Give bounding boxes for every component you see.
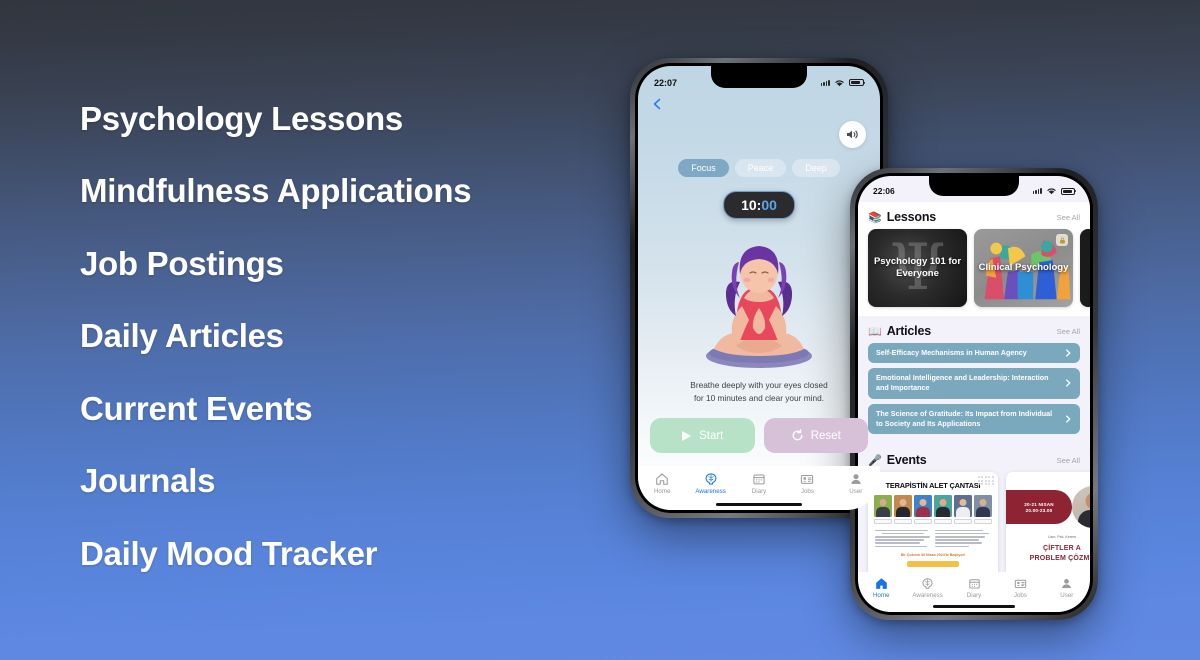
speaker-headshots (868, 495, 998, 524)
tab-jobs-label: Jobs (1014, 592, 1027, 599)
calendar-icon (968, 577, 981, 590)
poster-date-badge: 20-21 NISAN 20.00-23.00 (1006, 490, 1072, 524)
poster-title: TERAPİSTİN ALET ÇANTASI (874, 481, 992, 490)
timer-seconds: 00 (761, 197, 777, 213)
lesson-card-psychology-101[interactable]: Ψ Psychology 101 for Everyone (868, 229, 967, 307)
feature-list: Psychology Lessons Mindfulness Applicati… (80, 82, 600, 590)
lesson-card-title: Psychology 101 for Everyone (868, 256, 967, 281)
events-section: 🎤 Events See All TERAPİSTİN ALET ÇANTASI (858, 443, 1090, 572)
tab-awareness[interactable]: Awareness (904, 577, 950, 599)
tab-diary-label: Diary (967, 592, 981, 599)
tab-home-label: Home (654, 488, 671, 495)
feature-item-daily-articles: Daily Articles (80, 300, 600, 373)
presenter-photo (1072, 486, 1090, 528)
home-indicator (716, 503, 802, 507)
articles-header: 📖 Articles See All (858, 324, 1090, 338)
poster-headline-line-2: PROBLEM ÇÖZME (1006, 554, 1090, 564)
tab-home-label: Home (873, 592, 890, 599)
article-list: Self-Efficacy Mechanisms in Human Agency… (858, 343, 1090, 434)
speaker-headshot (914, 495, 932, 524)
book-icon: 📖 (868, 325, 882, 338)
lock-icon (1056, 234, 1068, 246)
tab-awareness-label: Awareness (912, 592, 943, 599)
lesson-card-clinical-psychology[interactable]: Clinical Psychology (974, 229, 1073, 307)
tab-diary[interactable]: Diary (735, 472, 783, 495)
tab-user-label: User (849, 488, 862, 495)
events-title: Events (887, 453, 927, 467)
home-scroll-content[interactable]: 📚 Lessons See All Ψ Psychology 101 for E… (858, 202, 1090, 572)
status-time: 22:06 (873, 186, 895, 196)
reset-button[interactable]: Reset (764, 418, 869, 453)
article-title: The Science of Gratitude: Its Impact fro… (876, 409, 1058, 429)
notch (711, 66, 807, 88)
instruction-text: Breathe deeply with your eyes closed for… (638, 379, 880, 405)
microphone-icon: 🎤 (868, 454, 882, 467)
home-icon (875, 577, 888, 590)
chevron-right-icon (1064, 349, 1072, 357)
mode-chip-group: Focus Peace Deep (638, 159, 880, 177)
tab-diary-label: Diary (752, 488, 766, 495)
lesson-card-row[interactable]: Ψ Psychology 101 for Everyone (858, 229, 1090, 307)
instruction-line-1: Breathe deeply with your eyes closed (658, 379, 860, 392)
notch (929, 176, 1019, 196)
wifi-icon (834, 79, 845, 87)
events-see-all[interactable]: See All (1057, 456, 1080, 465)
article-title: Emotional Intelligence and Leadership: I… (876, 373, 1058, 393)
signal-icon (1033, 188, 1042, 194)
play-icon (681, 430, 692, 442)
poster-hero: 20-21 NISAN 20.00-23.00 (1006, 484, 1090, 530)
wifi-icon (1046, 187, 1057, 195)
speaker-headshot (934, 495, 952, 524)
battery-icon (1061, 188, 1075, 195)
start-button-label: Start (699, 430, 723, 442)
status-time: 22:07 (654, 78, 677, 88)
tab-home[interactable]: Home (858, 577, 904, 599)
decor-dots (978, 476, 994, 485)
chip-focus[interactable]: Focus (678, 159, 729, 177)
poster-time: 20.00-23.00 (1026, 508, 1053, 513)
back-chevron-icon[interactable] (650, 97, 664, 111)
speaker-icon (846, 129, 859, 140)
poster-cta-button[interactable] (907, 561, 959, 567)
event-poster-terapistin-alet-cantasi[interactable]: TERAPİSTİN ALET ÇANTASI (868, 472, 998, 572)
home-icon (655, 472, 669, 486)
signal-icon (821, 80, 830, 86)
lesson-card-title: Clinical Psychology (975, 262, 1073, 274)
tab-home[interactable]: Home (638, 472, 686, 495)
home-screen: 22:06 📚 Lessons See All (858, 176, 1090, 612)
lessons-header: 📚 Lessons See All (858, 210, 1090, 224)
chevron-right-icon (1064, 415, 1072, 423)
refresh-icon (791, 429, 804, 442)
feature-item-current-events: Current Events (80, 372, 600, 445)
feature-item-journals: Journals (80, 445, 600, 518)
action-buttons: Start Reset (650, 418, 868, 453)
phone-home-mockup: 22:06 📚 Lessons See All (850, 168, 1098, 620)
tab-jobs[interactable]: Jobs (783, 472, 831, 495)
tab-user-label: User (1060, 592, 1073, 599)
phone-bezel: 22:07 Focus Peace (635, 63, 883, 513)
battery-icon (849, 79, 864, 87)
articles-section: 📖 Articles See All Self-Efficacy Mechani… (858, 316, 1090, 443)
feature-item-job-postings: Job Postings (80, 227, 600, 300)
home-indicator (933, 605, 1015, 608)
poster-headline: ÇİFTLER A PROBLEM ÇÖZME (1006, 544, 1090, 564)
article-title: Self-Efficacy Mechanisms in Human Agency (876, 348, 1058, 358)
id-card-icon (1014, 577, 1027, 590)
speaker-headshot (954, 495, 972, 524)
lessons-section: 📚 Lessons See All Ψ Psychology 101 for E… (858, 202, 1090, 316)
speaker-button[interactable] (839, 121, 866, 148)
brain-icon (704, 472, 718, 486)
event-poster-ciftler-problem-cozme[interactable]: Psikoloji 20-21 NISAN 20.00-23.00 Uzm. P… (1006, 472, 1090, 572)
lessons-see-all[interactable]: See All (1057, 213, 1080, 222)
person-icon (1060, 577, 1073, 590)
feature-item-psychology-lessons: Psychology Lessons (80, 82, 600, 155)
chip-deep[interactable]: Deep (792, 159, 840, 177)
brain-icon (921, 577, 934, 590)
tab-user[interactable]: User (832, 472, 880, 495)
person-icon (849, 472, 863, 486)
feature-item-mindfulness-applications: Mindfulness Applications (80, 155, 600, 228)
poster-brand: Psikoloji (1006, 472, 1090, 481)
books-icon: 📚 (868, 211, 882, 224)
tab-jobs-label: Jobs (801, 488, 814, 495)
poster-details (868, 524, 998, 548)
speaker-headshot (894, 495, 912, 524)
poster-date: 20-21 NISAN (1024, 502, 1054, 507)
meditation-screen: 22:07 Focus Peace (638, 66, 880, 510)
chip-peace[interactable]: Peace (735, 159, 787, 177)
tab-awareness[interactable]: Awareness (686, 472, 734, 495)
phone-bezel: 22:06 📚 Lessons See All (855, 173, 1093, 615)
start-button[interactable]: Start (650, 418, 755, 453)
id-card-icon (800, 472, 814, 486)
meditating-woman-illustration (684, 236, 834, 376)
tab-diary[interactable]: Diary (951, 577, 997, 599)
timer-minutes: 10: (741, 197, 761, 213)
presenter-name: Uzm. Psk. Kerem (1006, 535, 1090, 539)
article-item[interactable]: The Science of Gratitude: Its Impact fro… (868, 404, 1080, 434)
tab-awareness-label: Awareness (695, 488, 726, 495)
article-item[interactable]: Self-Efficacy Mechanisms in Human Agency (868, 343, 1080, 363)
tab-user[interactable]: User (1044, 577, 1090, 599)
instruction-line-2: for 10 minutes and clear your mind. (658, 392, 860, 405)
events-header: 🎤 Events See All (858, 453, 1090, 467)
articles-title: Articles (887, 324, 931, 338)
reset-button-label: Reset (811, 430, 841, 442)
chevron-right-icon (1064, 379, 1072, 387)
speaker-headshot (974, 495, 992, 524)
speaker-headshot (874, 495, 892, 524)
poster-headline-line-1: ÇİFTLER A (1006, 544, 1090, 554)
feature-item-daily-mood-tracker: Daily Mood Tracker (80, 517, 600, 590)
articles-see-all[interactable]: See All (1057, 327, 1080, 336)
event-poster-row[interactable]: TERAPİSTİN ALET ÇANTASI (858, 472, 1090, 572)
poster-date-note: Bir Çokının 30 Nisan 2024'te Başlıyor! (868, 553, 998, 557)
timer-display[interactable]: 10:00 (723, 191, 795, 219)
lesson-card-next-partial[interactable] (1080, 229, 1090, 307)
tab-jobs[interactable]: Jobs (997, 577, 1043, 599)
article-item[interactable]: Emotional Intelligence and Leadership: I… (868, 368, 1080, 398)
lessons-title: Lessons (887, 210, 936, 224)
calendar-icon (752, 472, 766, 486)
